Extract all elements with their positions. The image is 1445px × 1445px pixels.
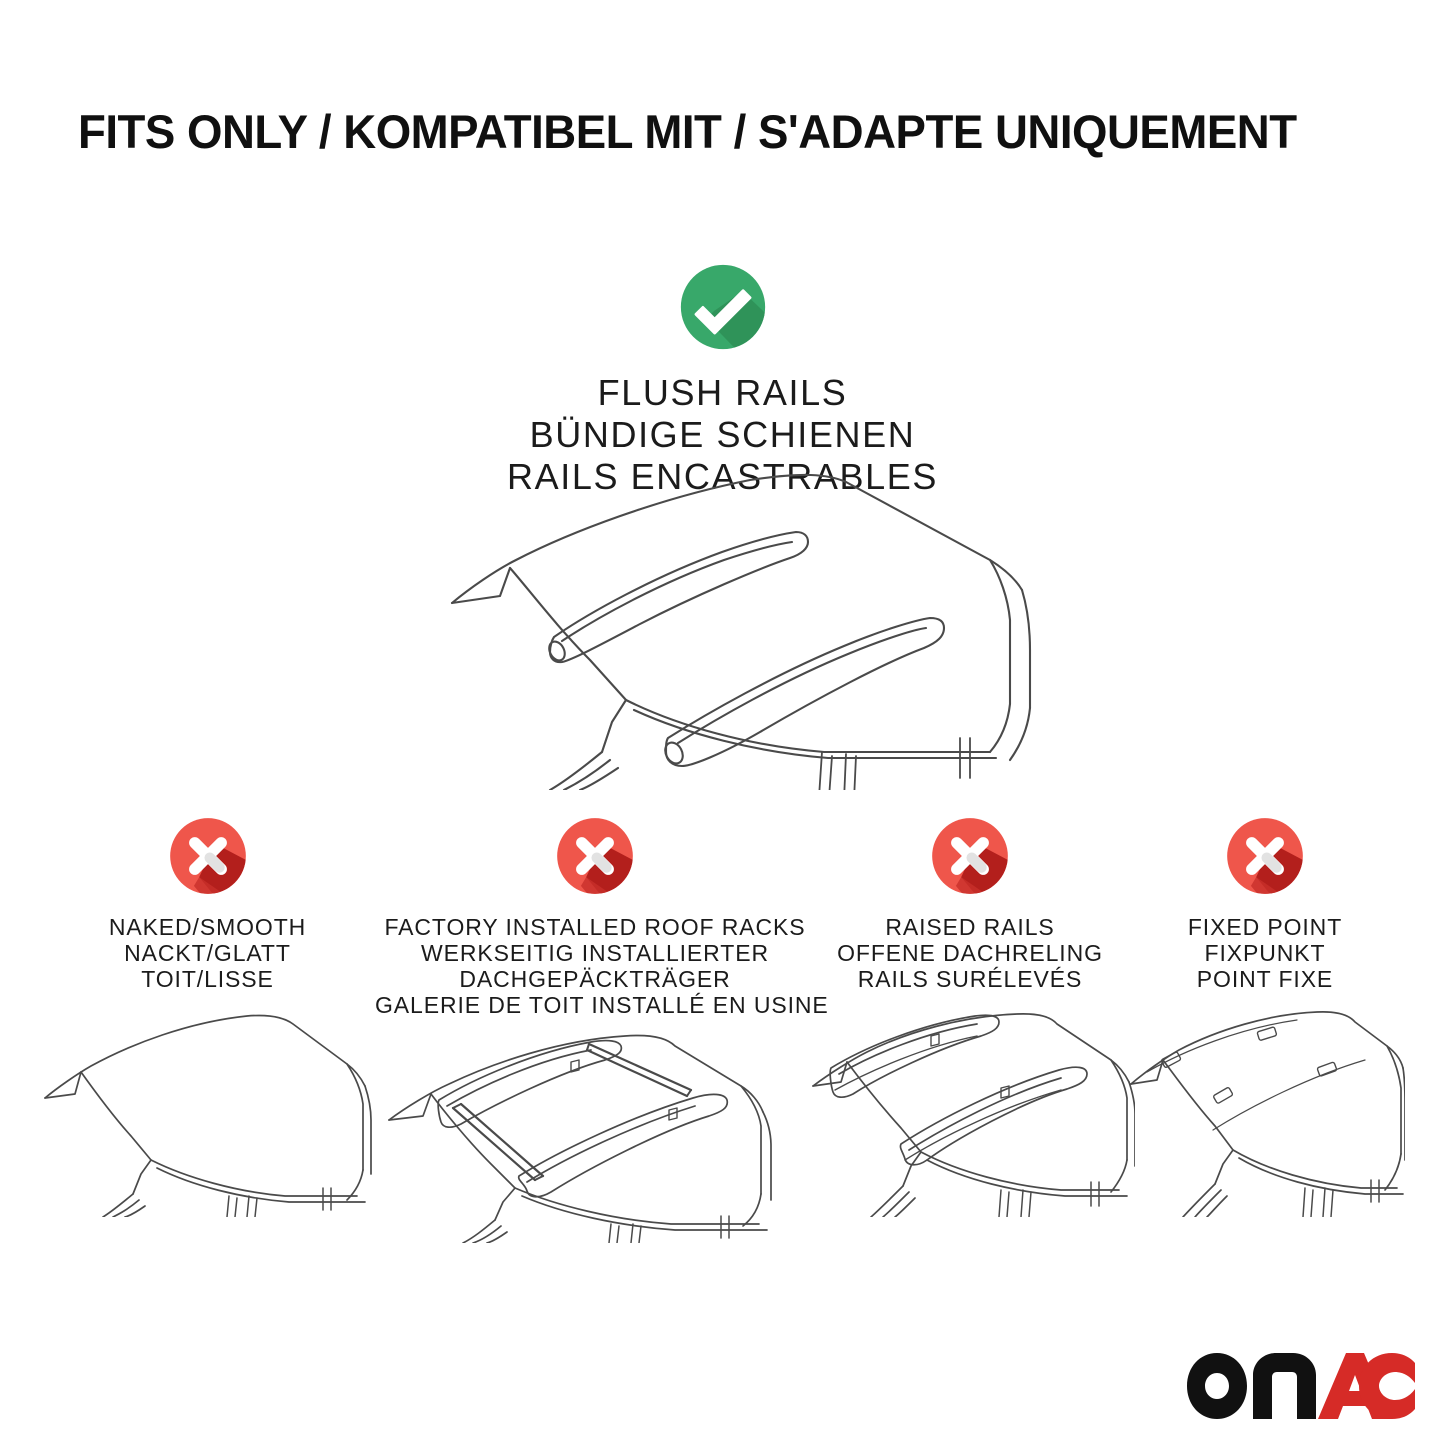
omac-logo bbox=[1183, 1349, 1415, 1423]
label-line-de-1: WERKSEITIG INSTALLIERTER bbox=[375, 940, 815, 966]
cross-circle-icon bbox=[926, 812, 1014, 900]
label-line-fr: GALERIE DE TOIT INSTALLÉ EN USINE bbox=[375, 992, 815, 1018]
label-line-fr: POINT FIXE bbox=[1125, 966, 1405, 992]
incompatible-column-factory-roof-racks: FACTORY INSTALLED ROOF RACKS WERKSEITIG … bbox=[375, 812, 815, 1243]
label-line-en: RAISED RAILS bbox=[805, 914, 1135, 940]
factory-roof-racks-illustration bbox=[375, 1028, 815, 1243]
naked-smooth-roof-illustration bbox=[35, 1002, 380, 1217]
label-line-de: OFFENE DACHRELING bbox=[805, 940, 1135, 966]
incompatible-column-naked-smooth: NAKED/SMOOTH NACKT/GLATT TOIT/LISSE bbox=[35, 812, 380, 1217]
incompatible-section: NAKED/SMOOTH NACKT/GLATT TOIT/LISSE bbox=[0, 812, 1445, 1232]
flush-rails-roof-illustration bbox=[430, 460, 1050, 790]
check-circle-icon bbox=[674, 258, 772, 356]
label-line-fr: TOIT/LISSE bbox=[35, 966, 380, 992]
label-line-de: FIXPUNKT bbox=[1125, 940, 1405, 966]
raised-rails-illustration bbox=[805, 1002, 1135, 1217]
compatible-label-en: FLUSH RAILS bbox=[0, 372, 1445, 414]
label-line-en: FIXED POINT bbox=[1125, 914, 1405, 940]
incompatible-labels: FACTORY INSTALLED ROOF RACKS WERKSEITIG … bbox=[375, 914, 815, 1018]
incompatible-column-raised-rails: RAISED RAILS OFFENE DACHRELING RAILS SUR… bbox=[805, 812, 1135, 1217]
incompatible-labels: NAKED/SMOOTH NACKT/GLATT TOIT/LISSE bbox=[35, 914, 380, 992]
fixed-point-illustration bbox=[1125, 1002, 1405, 1217]
cross-circle-icon bbox=[551, 812, 639, 900]
cross-circle-icon bbox=[1221, 812, 1309, 900]
cross-circle-icon bbox=[164, 812, 252, 900]
label-line-fr: RAILS SURÉLEVÉS bbox=[805, 966, 1135, 992]
compatible-label-de: BÜNDIGE SCHIENEN bbox=[0, 414, 1445, 456]
label-line-en: FACTORY INSTALLED ROOF RACKS bbox=[375, 914, 815, 940]
incompatible-labels: RAISED RAILS OFFENE DACHRELING RAILS SUR… bbox=[805, 914, 1135, 992]
label-line-de: NACKT/GLATT bbox=[35, 940, 380, 966]
incompatible-column-fixed-point: FIXED POINT FIXPUNKT POINT FIXE bbox=[1125, 812, 1405, 1217]
label-line-de-2: DACHGEPÄCKTRÄGER bbox=[375, 966, 815, 992]
label-line-en: NAKED/SMOOTH bbox=[35, 914, 380, 940]
page-title: FITS ONLY / KOMPATIBEL MIT / S'ADAPTE UN… bbox=[78, 104, 1339, 160]
incompatible-labels: FIXED POINT FIXPUNKT POINT FIXE bbox=[1125, 914, 1405, 992]
